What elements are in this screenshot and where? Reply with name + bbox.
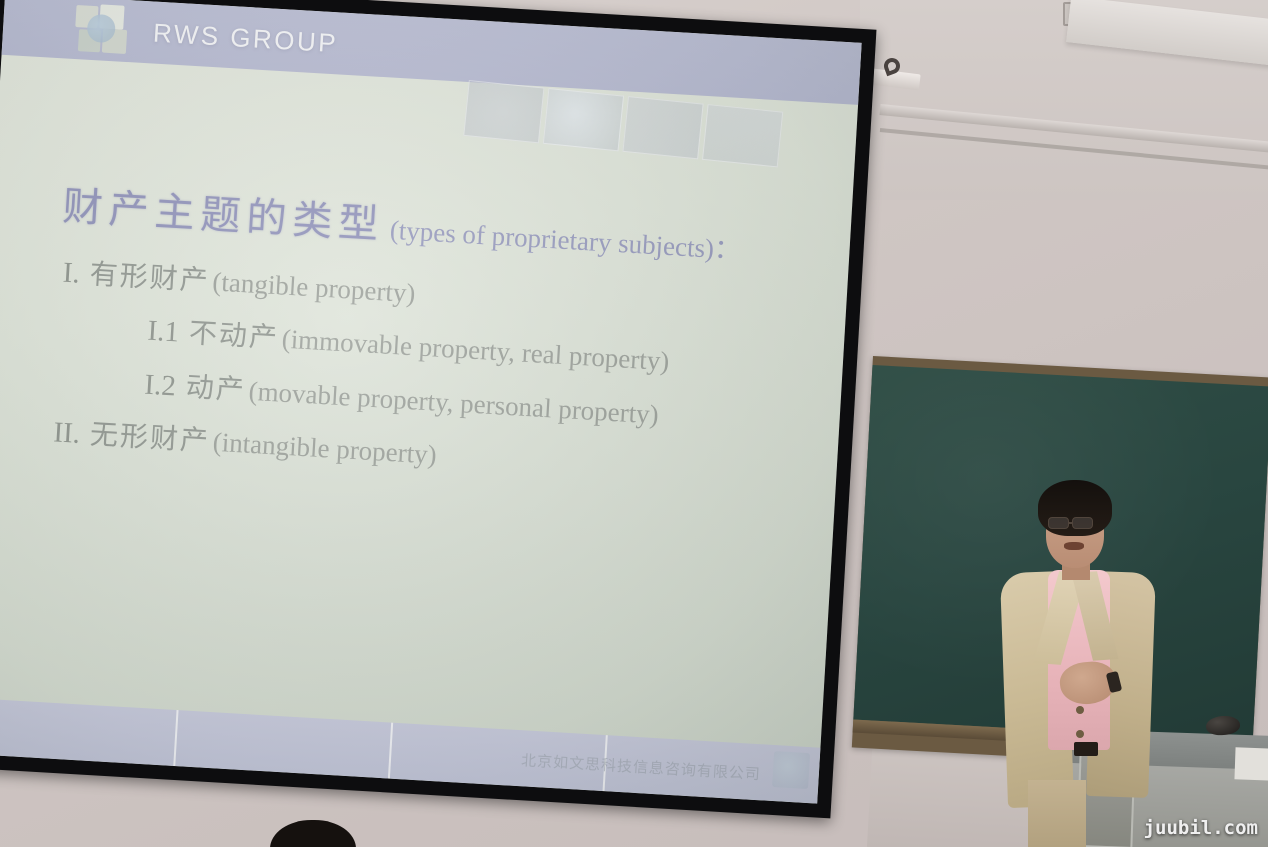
thumbnail-image-4 bbox=[702, 104, 783, 167]
bullet-english: (intangible property) bbox=[212, 427, 438, 470]
bullet-number: I.2 bbox=[144, 368, 177, 402]
presenter bbox=[990, 480, 1190, 847]
glasses-right-lens bbox=[1072, 517, 1093, 529]
slide-title: 财产主题的类型(types of proprietary subjects)： bbox=[62, 187, 811, 271]
slide-title-english: (types of proprietary subjects)： bbox=[389, 215, 742, 265]
belt bbox=[1074, 742, 1098, 756]
bullet-english: (immovable property, real property) bbox=[281, 324, 670, 377]
rws-group-logo bbox=[74, 3, 129, 56]
slide-content: 财产主题的类型(types of proprietary subjects)： … bbox=[0, 123, 854, 732]
footer-logo bbox=[772, 751, 810, 789]
bullet-chinese: 不动产 bbox=[188, 316, 280, 354]
podium-step bbox=[1234, 747, 1268, 780]
thumbnail-image-2 bbox=[543, 88, 624, 151]
bullet-english: (tangible property) bbox=[212, 266, 417, 308]
thumbnail-image-1 bbox=[463, 80, 544, 143]
bullet-number: II. bbox=[53, 416, 81, 449]
footer-cell-1 bbox=[0, 698, 179, 766]
bullet-chinese: 无形财产 bbox=[89, 418, 211, 458]
bullet-number: I.1 bbox=[147, 315, 180, 349]
jacket-button-1 bbox=[1076, 706, 1084, 714]
mouth bbox=[1064, 542, 1084, 550]
projected-slide: RWS GROUP 财产主题的类型(types of proprietary s… bbox=[0, 0, 862, 804]
site-watermark: juubil.com bbox=[1144, 817, 1258, 839]
lecture-room-scene: RWS GROUP 财产主题的类型(types of proprietary s… bbox=[0, 0, 1268, 847]
brand-name: RWS GROUP bbox=[152, 18, 339, 60]
glasses-left-lens bbox=[1048, 517, 1069, 529]
bullet-english: (movable property, personal property) bbox=[248, 375, 660, 429]
bullet-chinese: 有形财产 bbox=[89, 257, 211, 297]
thumbnail-image-3 bbox=[622, 96, 703, 159]
bullet-number: I. bbox=[62, 257, 81, 290]
slide-title-chinese: 财产主题的类型 bbox=[61, 184, 385, 249]
glasses-bridge bbox=[1069, 522, 1073, 524]
jacket-button-2 bbox=[1076, 730, 1084, 738]
bullet-chinese: 动产 bbox=[185, 370, 247, 406]
projection-screen-assembly: RWS GROUP 财产主题的类型(types of proprietary s… bbox=[0, 0, 890, 829]
trousers bbox=[1028, 780, 1086, 847]
